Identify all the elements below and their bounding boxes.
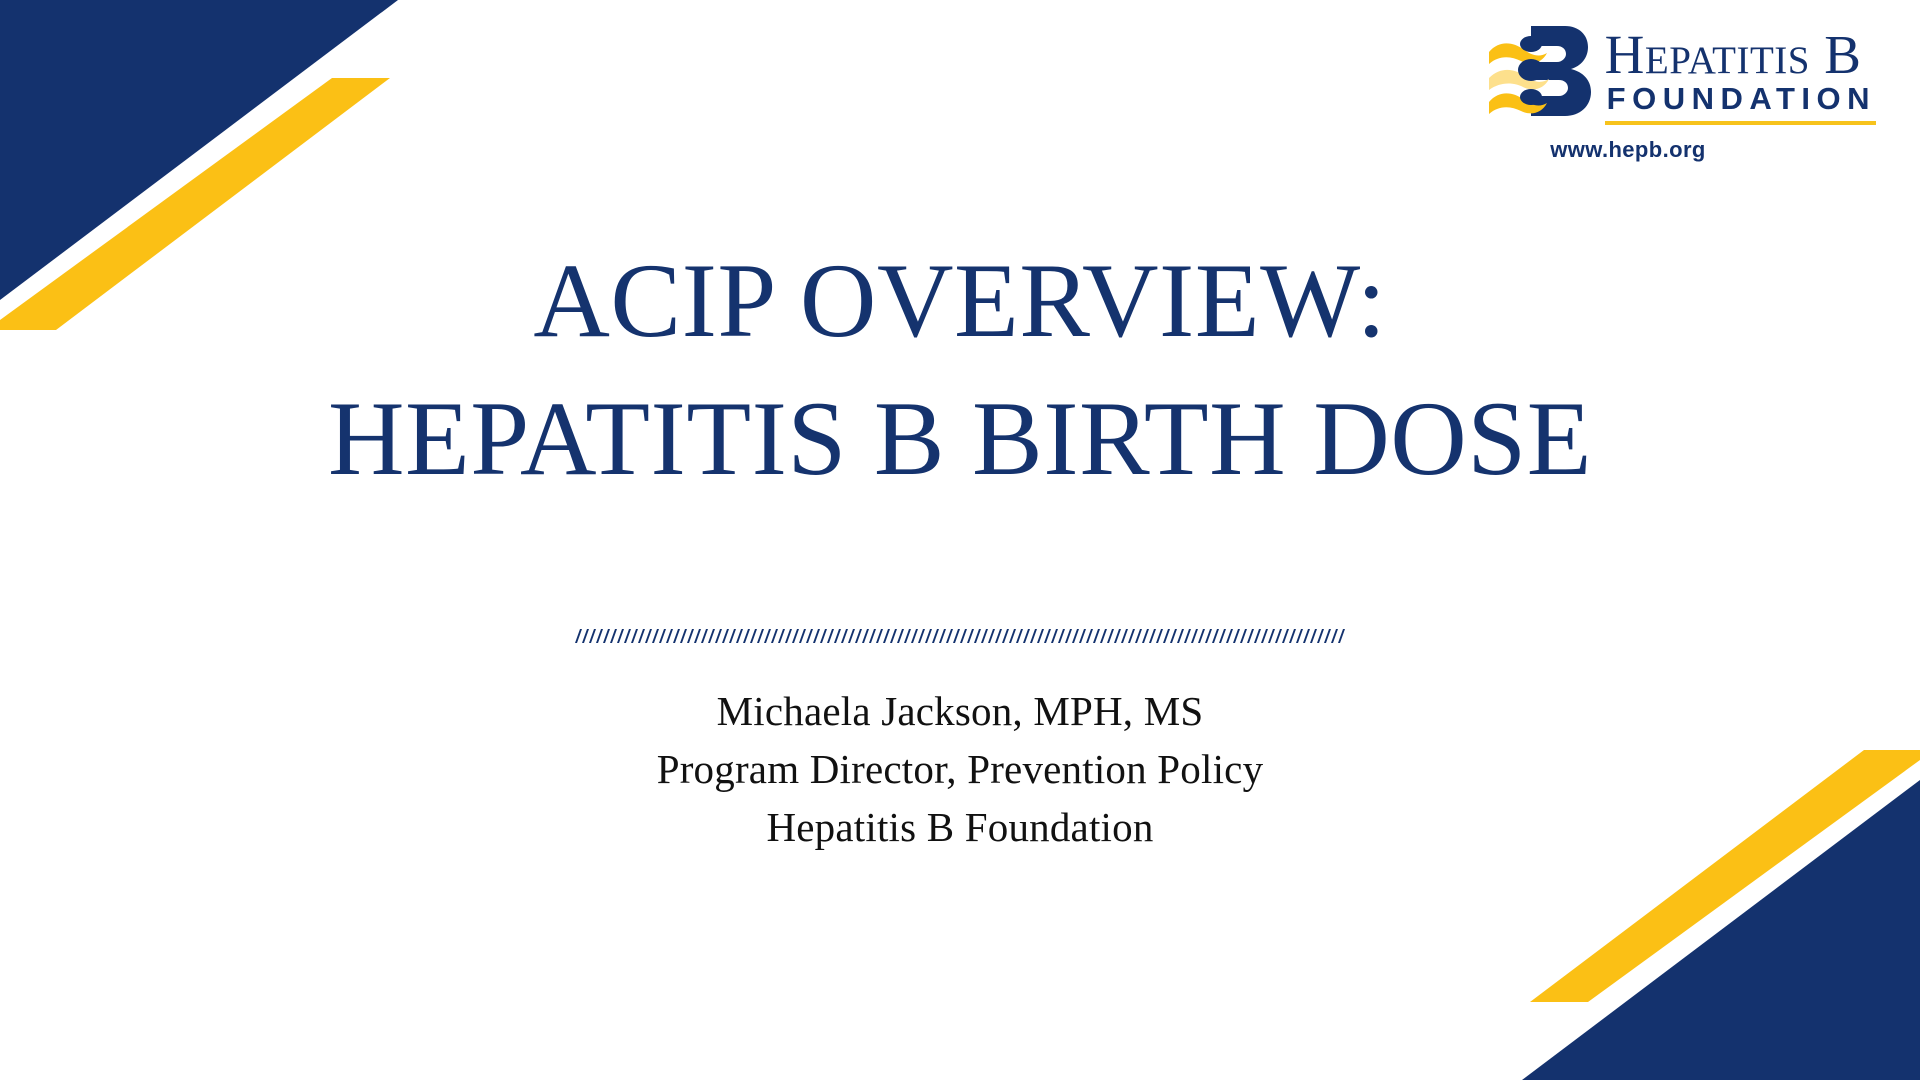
logo-primary-row: HEPATITIS B FOUNDATION (1487, 22, 1876, 128)
logo-wordmark: HEPATITIS B FOUNDATION (1605, 25, 1876, 125)
logo-title-lead: H (1605, 24, 1645, 85)
byline-presenter-organization: Hepatitis B Foundation (0, 798, 1920, 856)
divider-container (0, 628, 1920, 644)
title-line-1: ACIP OVERVIEW: (0, 232, 1920, 370)
logo-title-hepatitis-b: HEPATITIS B (1605, 29, 1876, 81)
logo-subtitle-foundation: FOUNDATION (1605, 81, 1876, 117)
slide-title: ACIP OVERVIEW: HEPATITIS B BIRTH DOSE (0, 232, 1920, 508)
presenter-byline: Michaela Jackson, MPH, MS Program Direct… (0, 682, 1920, 857)
logo-title-b: B (1824, 24, 1861, 85)
helix-b-icon (1487, 22, 1591, 128)
presentation-slide: HEPATITIS B FOUNDATION www.hepb.org ACIP… (0, 0, 1920, 1080)
title-line-2: HEPATITIS B BIRTH DOSE (0, 370, 1920, 508)
hepatitis-b-foundation-logo: HEPATITIS B FOUNDATION www.hepb.org (1416, 22, 1876, 163)
byline-presenter-title: Program Director, Prevention Policy (0, 740, 1920, 798)
logo-gold-rule (1605, 121, 1876, 125)
logo-url[interactable]: www.hepb.org (1550, 137, 1742, 163)
hatched-divider-icon (575, 628, 1345, 644)
logo-title-rest: EPATITIS (1645, 24, 1824, 85)
byline-presenter-name: Michaela Jackson, MPH, MS (0, 682, 1920, 740)
